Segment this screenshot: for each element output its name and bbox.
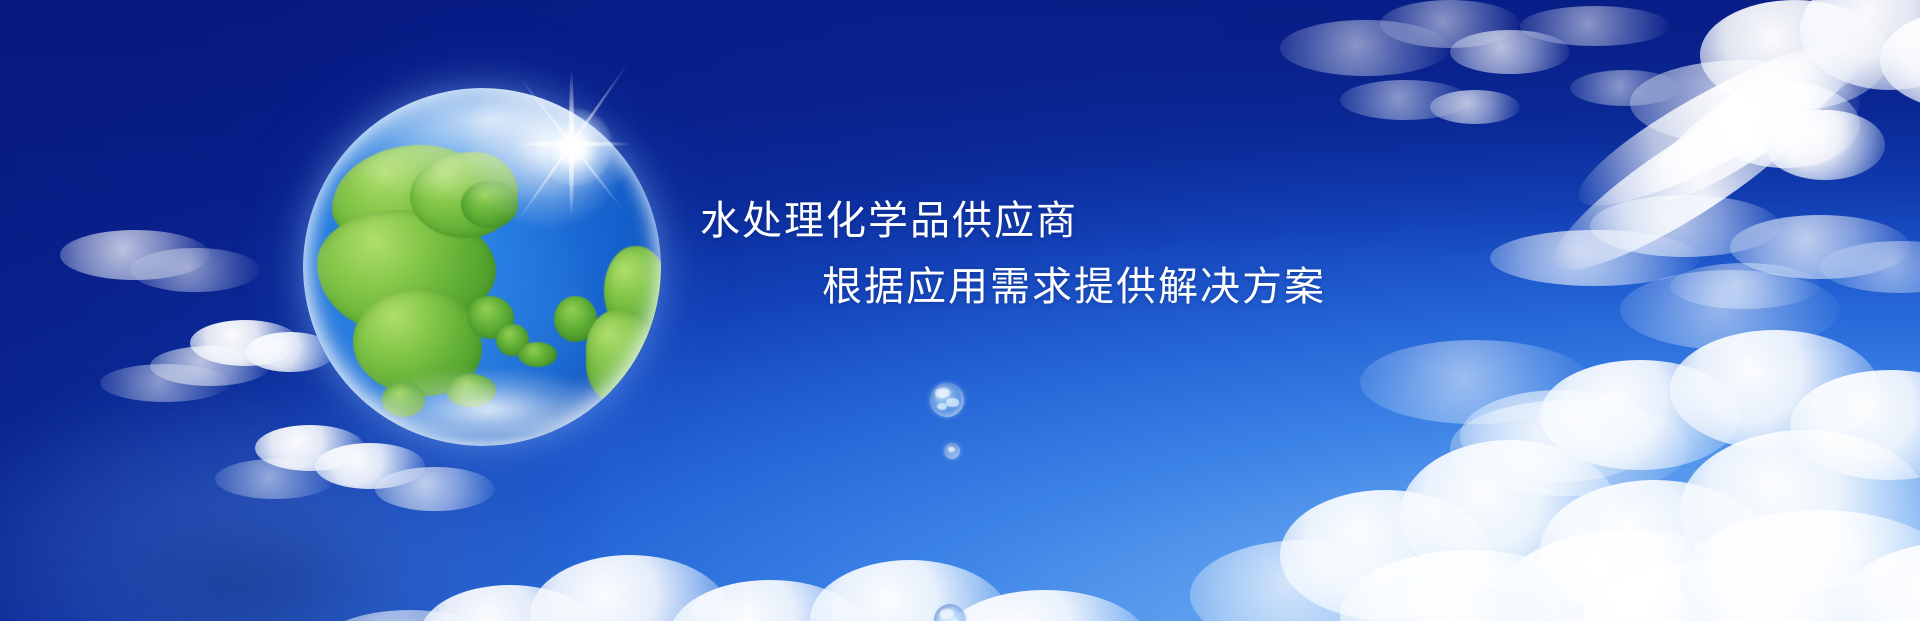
sky-shadow-lower-left	[10, 431, 440, 621]
water-droplet-large	[930, 383, 964, 417]
headline-line-1: 水处理化学品供应商	[700, 197, 1078, 245]
headline-line-2: 根据应用需求提供解决方案	[822, 263, 1326, 311]
water-droplet-small	[944, 443, 960, 459]
glass-globe	[303, 88, 661, 446]
hero-banner: 水处理化学品供应商 根据应用需求提供解决方案	[0, 0, 1920, 621]
